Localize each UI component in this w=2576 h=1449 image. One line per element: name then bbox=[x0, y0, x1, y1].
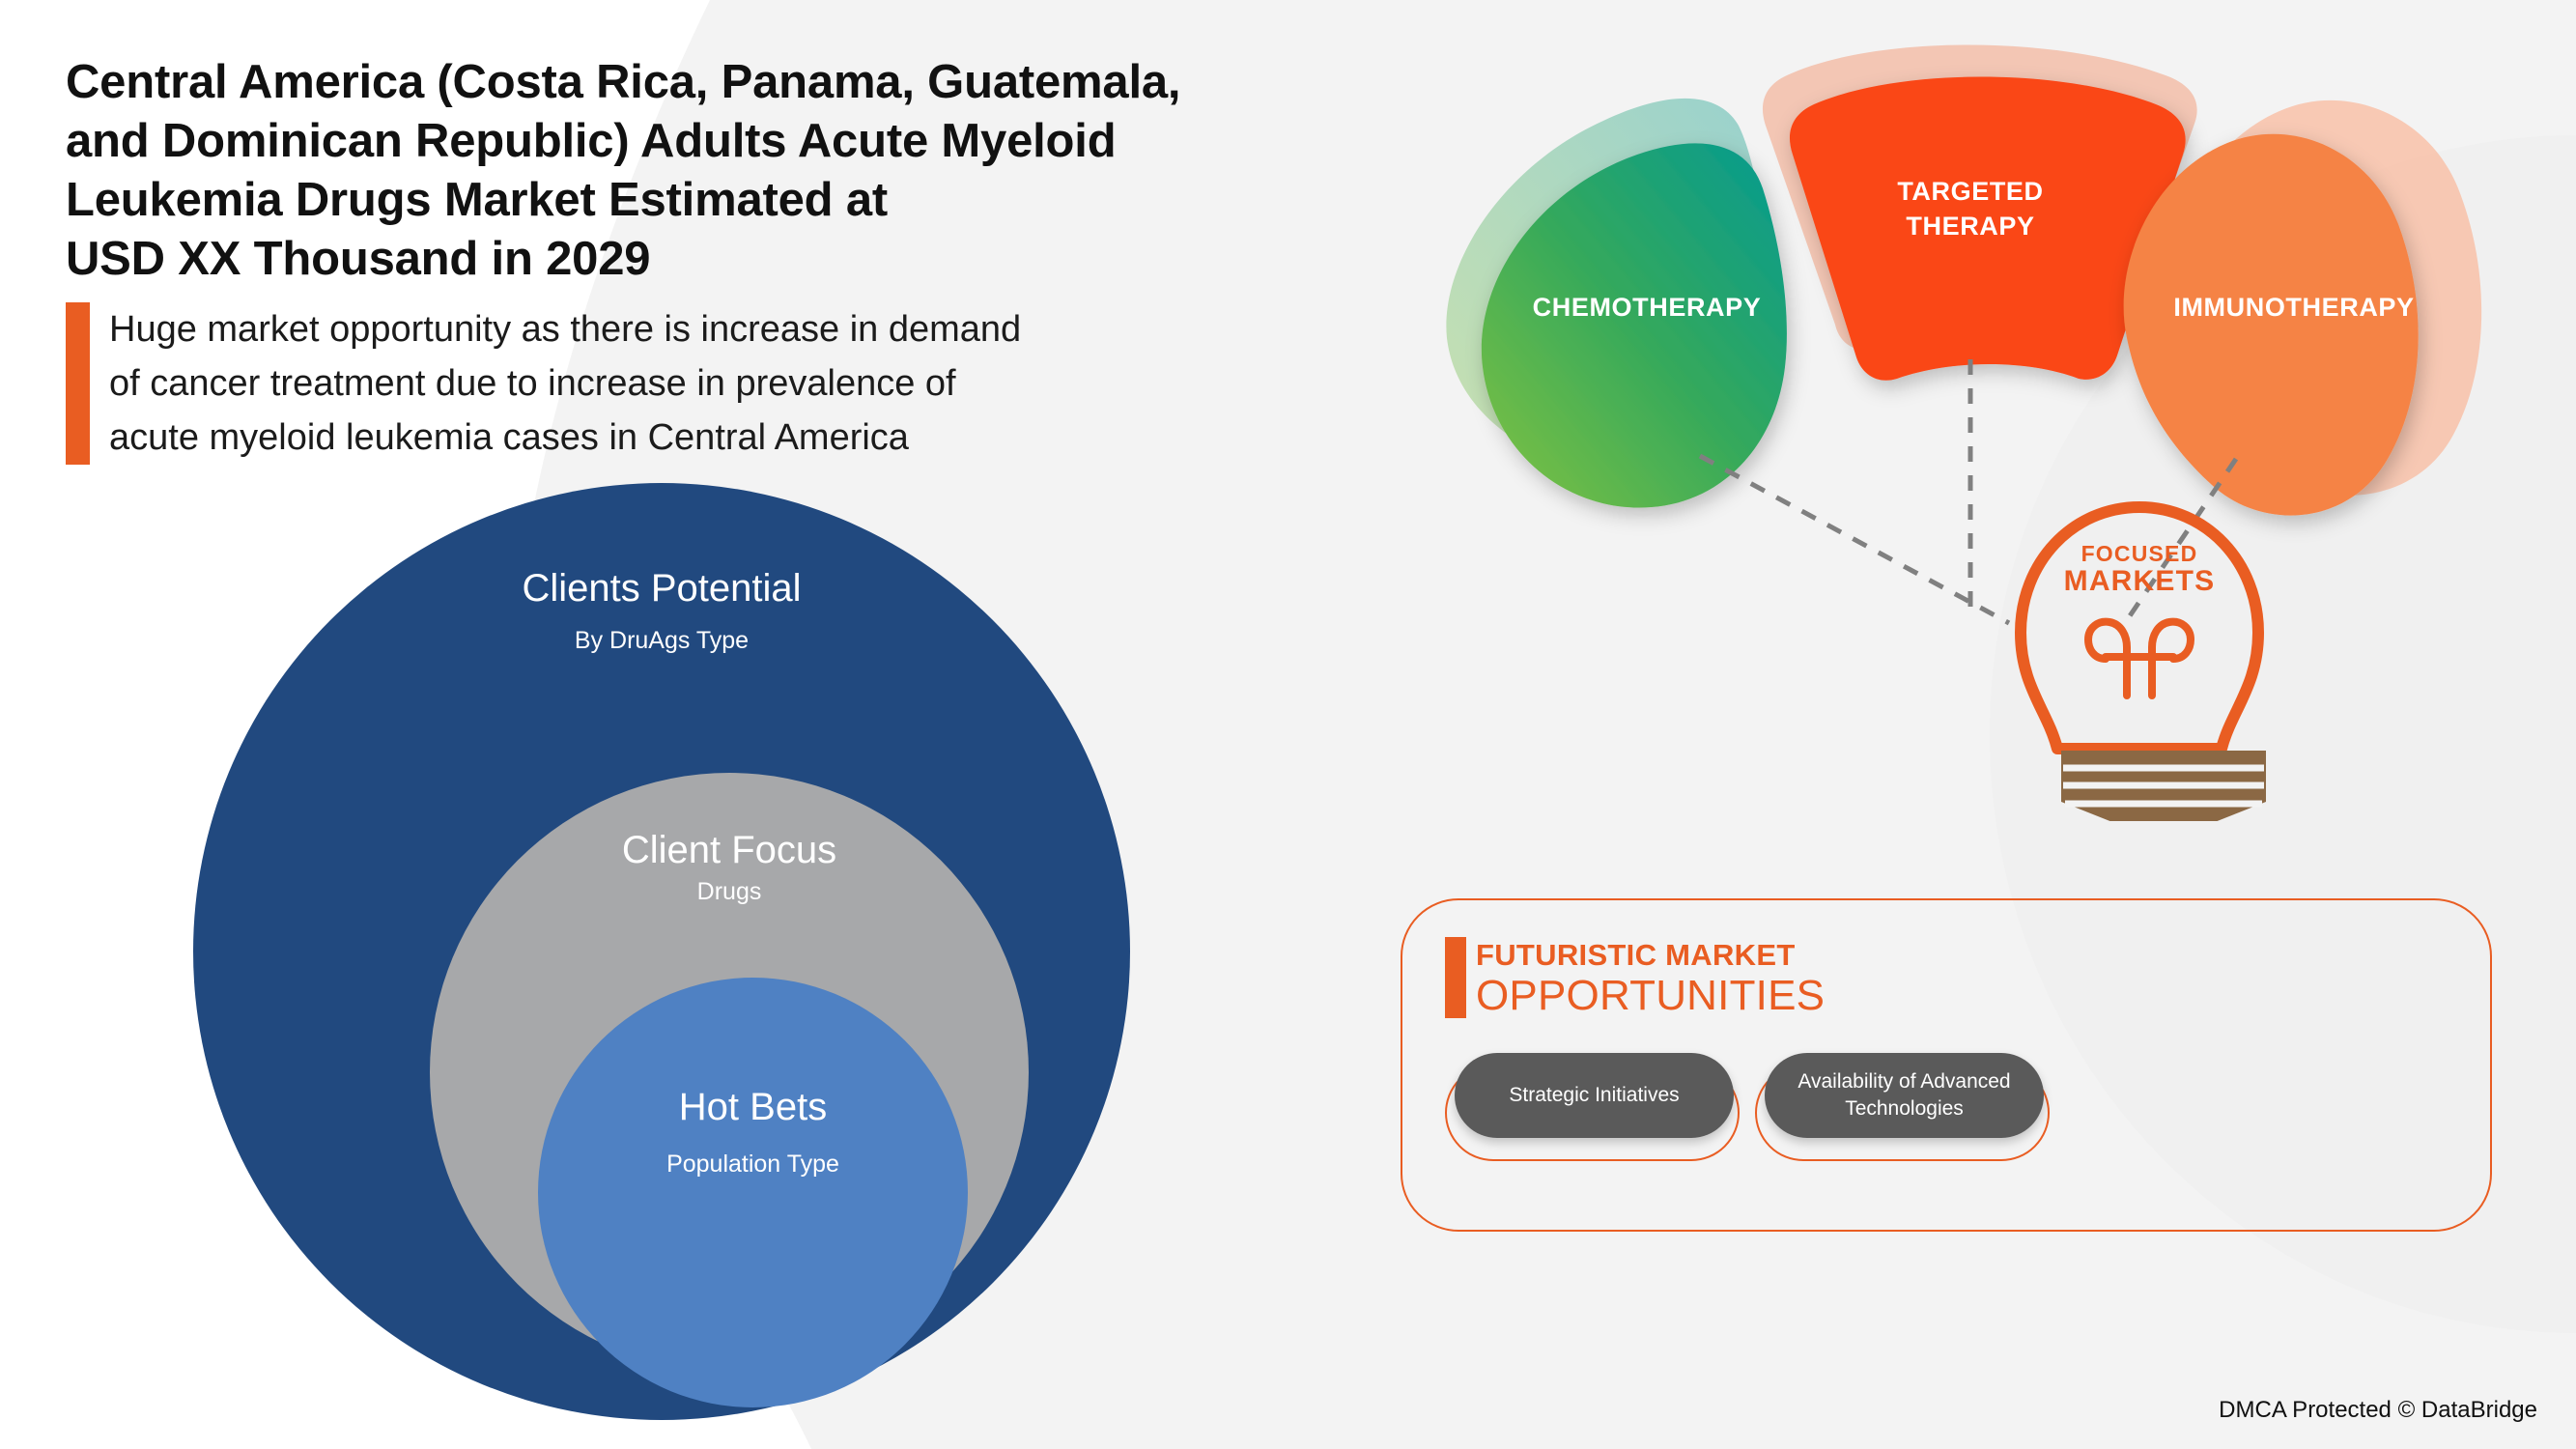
opportunities-title-line1: FUTURISTIC MARKET bbox=[1476, 937, 1825, 974]
immunotherapy-petal bbox=[2124, 134, 2419, 516]
lightbulb-glass-outline bbox=[2021, 507, 2258, 749]
infographic-canvas: Central America (Costa Rica, Panama, Gua… bbox=[0, 0, 2576, 1449]
opportunity-pill-outline: Strategic Initiatives bbox=[1445, 1065, 1740, 1161]
futuristic-market-opportunities-panel: FUTURISTIC MARKET OPPORTUNITIES Strategi… bbox=[1401, 898, 2492, 1232]
circle-outer-subtitle: By DruAgs Type bbox=[193, 628, 1130, 655]
headline-block: Central America (Costa Rica, Panama, Gua… bbox=[66, 53, 1630, 465]
connector-chemotherapy bbox=[1700, 456, 2009, 623]
page-title: Central America (Costa Rica, Panama, Gua… bbox=[66, 53, 1630, 289]
opportunity-item-strategic-initiatives[interactable]: Strategic Initiatives bbox=[1455, 1053, 1734, 1138]
copyright-footer: DMCA Protected © DataBridge bbox=[2219, 1397, 2537, 1424]
therapy-petals-diagram: CHEMOTHERAPY TARGETED THERAPY IMMUNOTHER… bbox=[1430, 19, 2511, 821]
accent-bar bbox=[66, 302, 90, 465]
subtitle-text: Huge market opportunity as there is incr… bbox=[109, 302, 1021, 465]
opportunities-title-line2: OPPORTUNITIES bbox=[1476, 974, 1825, 1018]
circle-hot-bets[interactable]: Hot Bets Population Type bbox=[538, 978, 968, 1407]
circle-inner-title: Hot Bets bbox=[538, 1086, 968, 1128]
concentric-circles-diagram: Clients Potential By DruAgs Type Client … bbox=[193, 483, 1149, 1391]
subtitle-row: Huge market opportunity as there is incr… bbox=[66, 302, 1630, 465]
opportunities-accent-bar bbox=[1445, 937, 1466, 1018]
opportunity-pill-outline: Availability of Advanced Technologies bbox=[1755, 1065, 2050, 1161]
petals-svg bbox=[1430, 19, 2511, 821]
circle-inner-subtitle: Population Type bbox=[538, 1151, 968, 1179]
opportunity-item-advanced-technologies[interactable]: Availability of Advanced Technologies bbox=[1765, 1053, 2044, 1138]
circle-middle-subtitle: Drugs bbox=[430, 879, 1029, 906]
opportunities-heading: FUTURISTIC MARKET OPPORTUNITIES bbox=[1445, 937, 1825, 1018]
circle-middle-title: Client Focus bbox=[430, 829, 1029, 871]
circle-outer-title: Clients Potential bbox=[193, 567, 1130, 610]
